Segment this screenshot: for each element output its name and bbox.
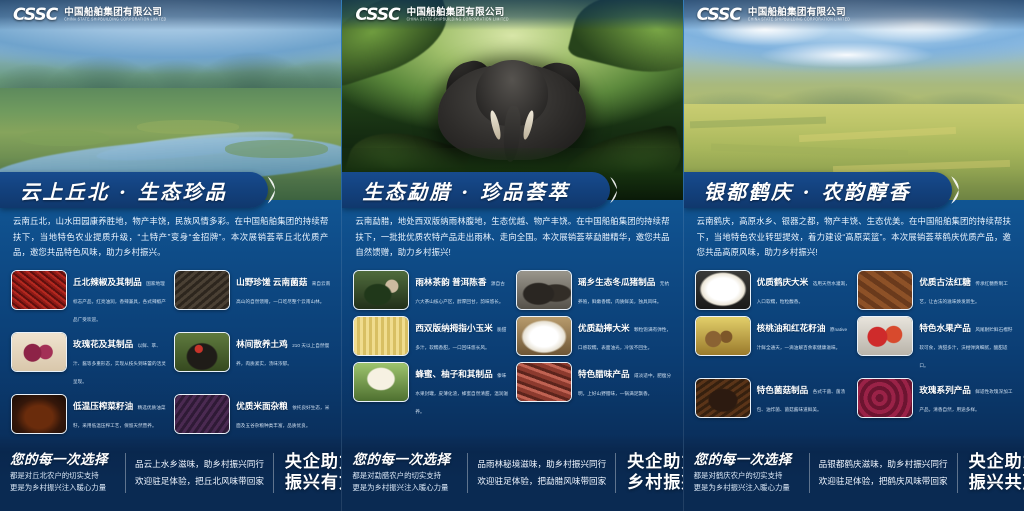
product-title: 优质勐捧大米 bbox=[578, 323, 630, 333]
product-thumbnail bbox=[695, 378, 751, 418]
product-card[interactable]: 优质古法红糖 传承红糖熬制工艺，让古法的滋味焕发新生。 bbox=[857, 270, 1013, 310]
scene-rainforest-elephant bbox=[342, 0, 682, 200]
product-grid-qiubei: 丘北辣椒及其制品 国家地理标志产品，红亮油润，香辣兼具，各式辣椒产品广受欢迎。 … bbox=[11, 270, 330, 434]
product-thumbnail bbox=[695, 316, 751, 356]
product-card[interactable]: 蜂蜜、柚子和其制品 傣味水果封罐，皮薄化渣，蜂蜜自然清甜，温润滋养。 bbox=[353, 362, 509, 418]
brand-text: 中国船舶集团有限公司 CHINA STATE SHIPBUILDING CORP… bbox=[748, 8, 850, 22]
brand-logo-bar: CSSC 中国船舶集团有限公司 CHINA STATE SHIPBUILDING… bbox=[342, 0, 682, 30]
hero-image-mengla: CSSC 中国船舶集团有限公司 CHINA STATE SHIPBUILDING… bbox=[342, 0, 682, 200]
footer-headline-block: 央企助力 振兴共赢 bbox=[967, 452, 1024, 493]
footer-headline-block: 央企助力 乡村振兴 bbox=[625, 452, 682, 493]
brand-name-en: CHINA STATE SHIPBUILDING CORPORATION LIM… bbox=[407, 18, 509, 22]
product-thumbnail bbox=[516, 270, 572, 310]
product-title: 优质米面杂粮 bbox=[236, 401, 288, 411]
footer-line-1: 品云上水乡滋味，助乡村振兴同行 bbox=[135, 456, 264, 473]
product-card[interactable]: 优质勐捧大米 颗粒饱满有弹性，口感软糯，表面油光，冷饭不回生。 bbox=[516, 316, 672, 356]
footer-slogan-block: 您的每一次选择 都是对丘北农户的切实支持 更是为乡村振兴注入暖心力量 bbox=[10, 453, 116, 494]
footer-lines-block: 品银都鹤庆滋味，助乡村振兴同行 欢迎驻足体验，把鹤庆风味带回家 bbox=[819, 456, 948, 490]
product-thumbnail bbox=[695, 270, 751, 310]
panel-mengla: CSSC 中国船舶集团有限公司 CHINA STATE SHIPBUILDING… bbox=[341, 0, 682, 511]
footer-headline-1: 央企助力 bbox=[969, 452, 1024, 473]
product-title: 山野珍馐 云南菌菇 bbox=[236, 277, 307, 287]
product-grid-heqing: 优质鹤庆大米 选用天然水灌溉，入口软糯，粒粒馥香。 优质古法红糖 传承红糖熬制工… bbox=[695, 270, 1013, 418]
ribbon-title-text: 生态勐腊 · 珍品荟萃 bbox=[362, 176, 569, 205]
product-grid-mengla: 雨林茶韵 普洱陈香 源自古六大茶山核心产区，醇厚回甘，韵味悠长。 瑶乡生态冬瓜猪… bbox=[353, 270, 671, 418]
product-thumbnail bbox=[353, 270, 409, 310]
product-card[interactable]: 特色腊味产品 咸淡适中，肥瘦分明，上好山野腊味，一锅满足飘香。 bbox=[516, 362, 672, 418]
product-title: 雨林茶韵 普洱陈香 bbox=[415, 277, 486, 287]
brand-name-en: CHINA STATE SHIPBUILDING CORPORATION LIM… bbox=[748, 18, 850, 22]
ribbon-title-text: 银都鹤庆 · 农韵醇香 bbox=[704, 176, 911, 205]
ribbon-title-text: 云上丘北 · 生态珍品 bbox=[20, 176, 227, 205]
product-card[interactable]: 优质鹤庆大米 选用天然水灌溉，入口软糯，粒粒馥香。 bbox=[695, 270, 851, 310]
footer-sub-2: 更是为乡村振兴注入暖心力量 bbox=[352, 482, 450, 493]
panel-qiubei: CSSC 中国船舶集团有限公司 CHINA STATE SHIPBUILDING… bbox=[0, 0, 341, 511]
footer-qiubei: 您的每一次选择 都是对丘北农户的切实支持 更是为乡村振兴注入暖心力量 品云上水乡… bbox=[0, 435, 341, 511]
product-card[interactable]: 特色菌菇制品 各式干菌、菌汤包、油炸菌、菌菇酱味道鲜美。 bbox=[695, 378, 851, 418]
product-thumbnail bbox=[516, 362, 572, 402]
product-title: 特色菌菇制品 bbox=[757, 385, 809, 395]
field-patch bbox=[137, 120, 239, 134]
cssc-logo-icon: CSSC bbox=[355, 7, 399, 24]
product-title: 特色腊味产品 bbox=[578, 369, 630, 379]
product-card[interactable]: 雨林茶韵 普洱陈香 源自古六大茶山核心产区，醇厚回甘，韵味悠长。 bbox=[353, 270, 509, 310]
footer-sub-1: 都是对鹤庆农户的切实支持 bbox=[694, 470, 792, 481]
hero-image-heqing: CSSC 中国船舶集团有限公司 CHINA STATE SHIPBUILDING… bbox=[684, 0, 1024, 200]
product-thumbnail bbox=[11, 270, 67, 310]
footer-heqing: 您的每一次选择 都是对鹤庆农户的切实支持 更是为乡村振兴注入暖心力量 品银都鹤庆… bbox=[684, 435, 1024, 511]
brand-logo-bar: CSSC 中国船舶集团有限公司 CHINA STATE SHIPBUILDING… bbox=[0, 0, 341, 30]
poster-board: CSSC 中国船舶集团有限公司 CHINA STATE SHIPBUILDING… bbox=[0, 0, 1024, 511]
product-thumbnail bbox=[857, 270, 913, 310]
cloud bbox=[759, 42, 936, 68]
footer-headline-2: 振兴有方 bbox=[285, 473, 341, 494]
footer-divider bbox=[809, 453, 810, 493]
product-card[interactable]: 瑶乡生态冬瓜猪制品 无抗养殖，鲜嫩香糯，肉质鲜美，独具风味。 bbox=[516, 270, 672, 310]
intro-paragraph-heqing: 云南鹤庆，高原水乡、银器之都，物产丰饶、生态优美。在中国船舶集团的持续帮扶下，当… bbox=[697, 214, 1011, 261]
product-card[interactable]: 玫瑰花及其制品 以鲜、萃、汁、酱等多重形态，实现从枝头到味蕾的活灵呈现。 bbox=[11, 332, 167, 388]
footer-divider bbox=[125, 453, 126, 493]
footer-slogan-block: 您的每一次选择 都是对鹤庆农户的切实支持 更是为乡村振兴注入暖心力量 bbox=[694, 453, 800, 494]
product-card[interactable]: 低温压榨菜籽油 精选优质油菜籽，采用低温压榨工艺，保留天然营养。 bbox=[11, 394, 167, 434]
product-title: 丘北辣椒及其制品 bbox=[73, 277, 142, 287]
footer-lines-block: 品雨林秘境滋味，助乡村振兴同行 欢迎驻足体验，把勐腊风味带回家 bbox=[477, 456, 606, 490]
product-card[interactable]: 优质米面杂粮 依托良好生态，米面及五谷杂粮种类丰富，品质优良。 bbox=[174, 394, 330, 434]
footer-headline-block: 央企助力 振兴有方 bbox=[283, 452, 341, 493]
footer-sub-1: 都是对勐腊农户的切实支持 bbox=[352, 470, 450, 481]
footer-script-text: 您的每一次选择 bbox=[352, 453, 450, 468]
footer-line-1: 品银都鹤庆滋味，助乡村振兴同行 bbox=[819, 456, 948, 473]
ribbon-title-mengla: 生态勐腊 · 珍品荟萃 bbox=[342, 172, 610, 208]
brand-text: 中国船舶集团有限公司 CHINA STATE SHIPBUILDING CORP… bbox=[407, 8, 509, 22]
footer-script-text: 您的每一次选择 bbox=[10, 453, 108, 468]
product-thumbnail bbox=[353, 362, 409, 402]
product-title: 西双版纳拇指小玉米 bbox=[415, 323, 492, 333]
footer-slogan-block: 您的每一次选择 都是对勐腊农户的切实支持 更是为乡村振兴注入暖心力量 bbox=[352, 453, 458, 494]
footer-sub-1: 都是对丘北农户的切实支持 bbox=[10, 470, 108, 481]
footer-divider bbox=[957, 453, 958, 493]
product-title: 蜂蜜、柚子和其制品 bbox=[415, 369, 492, 379]
product-title: 林间散养土鸡 bbox=[236, 339, 288, 349]
footer-mengla: 您的每一次选择 都是对勐腊农户的切实支持 更是为乡村振兴注入暖心力量 品雨林秘境… bbox=[342, 435, 682, 511]
scene-plateau-fields bbox=[684, 0, 1024, 200]
field-patch bbox=[225, 140, 327, 158]
hero-image-qiubei: CSSC 中国船舶集团有限公司 CHINA STATE SHIPBUILDING… bbox=[0, 0, 341, 200]
cssc-logo-icon: CSSC bbox=[697, 7, 741, 24]
product-thumbnail bbox=[174, 332, 230, 372]
product-thumbnail bbox=[11, 394, 67, 434]
footer-script-text: 您的每一次选择 bbox=[694, 453, 792, 468]
product-card[interactable]: 特色水果产品 风尾耐贮鲜石榴籽软可食，清甜多汁，沃柑弹爽细腻，酸甜适口。 bbox=[857, 316, 1013, 372]
product-title: 核桃油和红花籽油 bbox=[757, 323, 826, 333]
footer-lines-block: 品云上水乡滋味，助乡村振兴同行 欢迎驻足体验，把丘北风味带回家 bbox=[135, 456, 264, 490]
product-card[interactable]: 山野珍馐 云南菌菇 来自云南高山的自然馈赠，一口吃尽整个云南山林。 bbox=[174, 270, 330, 326]
product-card[interactable]: 丘北辣椒及其制品 国家地理标志产品，红亮油润，香辣兼具，各式辣椒产品广受欢迎。 bbox=[11, 270, 167, 326]
product-title: 玫瑰花及其制品 bbox=[73, 339, 133, 349]
footer-line-1: 品雨林秘境滋味，助乡村振兴同行 bbox=[477, 456, 606, 473]
footer-line-2: 欢迎驻足体验，把鹤庆风味带回家 bbox=[819, 473, 948, 490]
product-thumbnail bbox=[516, 316, 572, 356]
ribbon-title-heqing: 银都鹤庆 · 农韵醇香 bbox=[684, 172, 952, 208]
scene-karst-rice-fields bbox=[0, 0, 341, 200]
footer-headline-2: 振兴共赢 bbox=[969, 473, 1024, 494]
product-thumbnail bbox=[353, 316, 409, 356]
product-title: 低温压榨菜籽油 bbox=[73, 401, 133, 411]
panel-heqing: CSSC 中国船舶集团有限公司 CHINA STATE SHIPBUILDING… bbox=[683, 0, 1024, 511]
product-title: 玫瑰系列产品 bbox=[919, 385, 971, 395]
footer-headline-1: 央企助力 bbox=[285, 452, 341, 473]
product-card[interactable]: 玫瑰系列产品 鲜适性玫瑰深加工产品，清香自然，用途多样。 bbox=[857, 378, 1013, 418]
field-patch bbox=[20, 130, 109, 146]
brand-text: 中国船舶集团有限公司 CHINA STATE SHIPBUILDING CORP… bbox=[64, 8, 166, 22]
intro-paragraph-mengla: 云南勐腊，地处西双版纳雨林腹地，生态优越、物产丰饶。在中国船舶集团的持续帮扶下，… bbox=[355, 214, 669, 261]
footer-headline-1: 央企助力 bbox=[627, 452, 682, 473]
product-thumbnail bbox=[857, 378, 913, 418]
footer-divider bbox=[273, 453, 274, 493]
product-title: 优质鹤庆大米 bbox=[757, 277, 809, 287]
footer-divider bbox=[615, 453, 616, 493]
product-thumbnail bbox=[174, 270, 230, 310]
product-card[interactable]: 西双版纳拇指小玉米 脆甜多汁，软糯香甜，一口回味悠长风。 bbox=[353, 316, 509, 356]
brand-name-en: CHINA STATE SHIPBUILDING CORPORATION LIM… bbox=[64, 18, 166, 22]
footer-divider bbox=[467, 453, 468, 493]
product-card[interactable]: 核桃油和红花籽油 原native汁鲜全通天，一滴油解百余家健康滋味。 bbox=[695, 316, 851, 372]
footer-sub-2: 更是为乡村振兴注入暖心力量 bbox=[10, 482, 108, 493]
intro-paragraph-qiubei: 云南丘北，山水田园康养胜地，物产丰饶，民族风情多彩。在中国船舶集团的持续帮扶下，… bbox=[13, 214, 328, 261]
ribbon-title-qiubei: 云上丘北 · 生态珍品 bbox=[0, 172, 268, 208]
footer-line-2: 欢迎驻足体验，把丘北风味带回家 bbox=[135, 473, 264, 490]
footer-line-2: 欢迎驻足体验，把勐腊风味带回家 bbox=[477, 473, 606, 490]
product-title: 特色水果产品 bbox=[919, 323, 971, 333]
footer-sub-2: 更是为乡村振兴注入暖心力量 bbox=[694, 482, 792, 493]
cssc-logo-icon: CSSC bbox=[13, 7, 57, 24]
product-thumbnail bbox=[857, 316, 913, 356]
product-title: 瑶乡生态冬瓜猪制品 bbox=[578, 277, 655, 287]
product-thumbnail bbox=[174, 394, 230, 434]
product-thumbnail bbox=[11, 332, 67, 372]
brand-logo-bar: CSSC 中国船舶集团有限公司 CHINA STATE SHIPBUILDING… bbox=[684, 0, 1024, 30]
product-card[interactable]: 林间散养土鸡 210 天以上自然慢养，肉质紧实，汤味浓郁。 bbox=[174, 332, 330, 388]
footer-headline-2: 乡村振兴 bbox=[627, 473, 682, 494]
product-title: 优质古法红糖 bbox=[919, 277, 971, 287]
